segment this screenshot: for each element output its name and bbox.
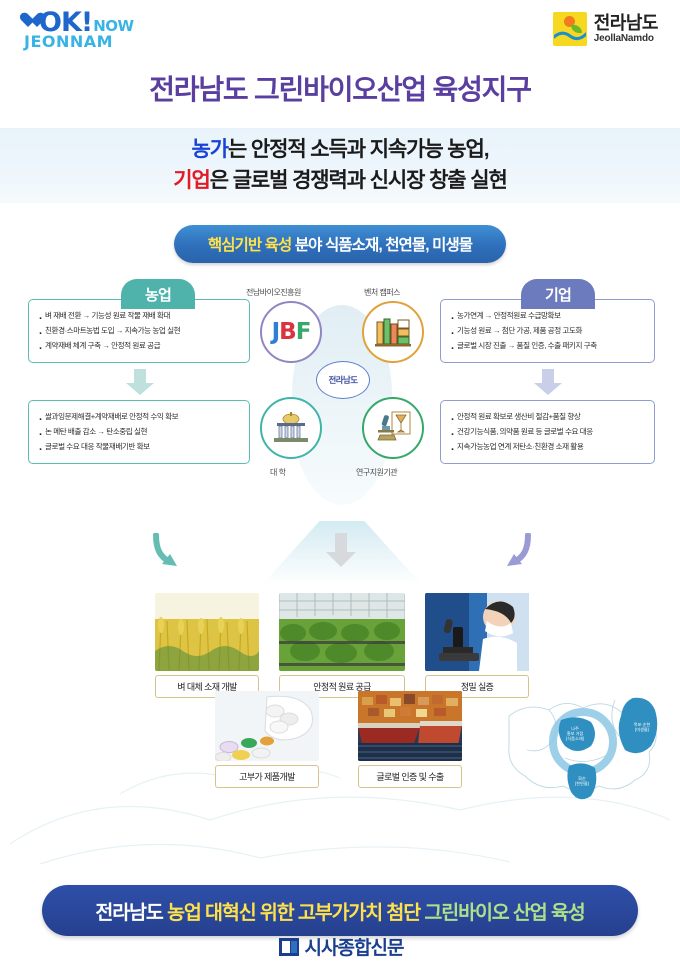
list-item: 지속가능농업 연계 저탄소·친환경 소재 활용 xyxy=(451,440,646,455)
banner-part-2: 농업 대혁신 위한 고부가가치 첨단 xyxy=(167,902,424,924)
container-ship-port-photo xyxy=(358,691,462,761)
center-node-jeonnam: 전라남도 xyxy=(316,361,370,399)
node-label-venture-campus: 벤처 캠퍼스 xyxy=(364,287,400,298)
university-building-icon xyxy=(272,412,310,444)
photo-card-greenhouse: 안정적 원료 공급 xyxy=(279,593,405,698)
heart-icon xyxy=(24,13,41,28)
node-label-university: 대 학 xyxy=(270,467,285,478)
map-icon: 나주홍보 거점(식품소재) 목포·순천(미생물) 화순(천연물) xyxy=(505,686,680,806)
photo-card-lab: 정밀 실증 xyxy=(425,593,529,698)
photo-caption: 글로벌 인증 및 수출 xyxy=(358,765,462,788)
jbf-logo-icon: JBF xyxy=(272,319,311,345)
list-item: 쌀과잉문제해결+계약재배로 안정적 수익 확보 xyxy=(39,410,241,425)
enterprise-panel-2: 안정적 원료 확보로 생산비 절감+품질 향상 건강기능식품, 의약품 원료 등… xyxy=(440,400,655,464)
ecosystem-diagram: 농업 기업 벼 재배 전환 → 기능성 원료 작물 재배 확대 친환경·스마트농… xyxy=(0,277,680,537)
subtitle-line-1: 농가는 안정적 소득과 지속가능 농업, xyxy=(192,135,489,165)
jeollanamdo-emblem-icon xyxy=(553,12,587,46)
jeonnam-region-map: 나주홍보 거점(식품소재) 목포·순천(미생물) 화순(천연물) xyxy=(505,686,680,806)
photo-card-rice: 벼 대체 소재 개발 xyxy=(155,593,259,698)
svg-text:(천연물): (천연물) xyxy=(575,780,590,786)
list-item: 벼 재배 전환 → 기능성 원료 작물 재배 확대 xyxy=(39,309,241,324)
subtitle-rest-2: 은 글로벌 경쟁력과 신시장 창출 실현 xyxy=(210,169,507,192)
photo-card-export: 글로벌 인증 및 수출 xyxy=(358,691,462,788)
node-circle-venture-campus xyxy=(362,301,424,363)
subtitle-rest-1: 는 안정적 소득과 지속가능 농업, xyxy=(228,138,489,161)
list-item: 건강기능식품, 의약품 원료 등 글로벌 수요 대응 xyxy=(451,425,646,440)
core-field-pill-wrap: 핵심기반 육성 분야 식품소재, 천연물, 미생물 xyxy=(0,225,680,263)
subtitle-line-2: 기업은 글로벌 경쟁력과 신시장 창출 실현 xyxy=(173,166,506,196)
center-down-arrow-icon xyxy=(325,533,357,567)
lab-researcher-microscope-photo xyxy=(425,593,529,671)
page-header: OK! NOW JEONNAM 전라남도 JeollaNamdo xyxy=(0,0,680,62)
watermark-text: 시사종합신문 xyxy=(305,933,404,960)
ok-now-jeonnam-logo: OK! NOW JEONNAM xyxy=(24,10,152,52)
microscope-icon xyxy=(374,411,412,445)
svg-text:(식품소재): (식품소재) xyxy=(566,735,585,742)
flow-arrows xyxy=(0,537,680,591)
down-arrow-enterprise-icon xyxy=(533,369,563,395)
core-field-pill: 핵심기반 육성 분야 식품소재, 천연물, 미생물 xyxy=(174,225,506,263)
svg-text:(미생물): (미생물) xyxy=(635,726,650,733)
list-item: 논 메탄 배출 감소 → 탄소중립 실현 xyxy=(39,425,241,440)
jeollanamdo-name-en: JeollaNamdo xyxy=(594,33,658,44)
right-curved-arrow-icon xyxy=(498,533,534,573)
down-arrow-agriculture-icon xyxy=(125,369,155,395)
diagram-tab-agriculture: 농업 xyxy=(121,279,195,309)
newspaper-logo-icon xyxy=(277,936,301,958)
agriculture-panel-2: 쌀과잉문제해결+계약재배로 안정적 수익 확보 논 메탄 배출 감소 → 탄소중… xyxy=(28,400,250,464)
pill-rest: 분야 식품소재, 천연물, 미생물 xyxy=(291,237,472,254)
list-item: 농가연계 → 안정적원료 수급망확보 xyxy=(451,309,646,324)
rice-field-photo xyxy=(155,593,259,671)
diagram-tab-enterprise: 기업 xyxy=(521,279,595,309)
node-circle-university xyxy=(260,397,322,459)
list-item: 계약재배 체계 구축 → 안정적 원료 공급 xyxy=(39,339,241,354)
photo-gallery: 벼 대체 소재 개발 xyxy=(0,591,680,841)
partner-cluster: 전남바이오진흥원 JBF 벤처 캠퍼스 대 학 xyxy=(252,285,434,500)
node-circle-bio-agency: JBF xyxy=(260,301,322,363)
left-curved-arrow-icon xyxy=(150,533,186,573)
list-item: 친환경·스마트농법 도입 → 지속가능 농업 실현 xyxy=(39,324,241,339)
banner-part-1: 전라남도 xyxy=(95,902,167,924)
photo-card-pills: 고부가 제품개발 xyxy=(215,691,319,788)
subtitle-highlight-corp: 기업 xyxy=(173,169,209,192)
greenhouse-photo xyxy=(279,593,405,671)
list-item: 기능성 원료 → 첨단 가공, 제품 공정 고도화 xyxy=(451,324,646,339)
node-label-bio-agency: 전남바이오진흥원 xyxy=(246,287,301,298)
node-label-research-institute: 연구지원기관 xyxy=(356,467,397,478)
list-item: 글로벌 시장 진출 → 품질 인증, 수출 패키지 구축 xyxy=(451,339,646,354)
subtitle-band: 농가는 안정적 소득과 지속가능 농업, 기업은 글로벌 경쟁력과 신시장 창출… xyxy=(0,128,680,203)
list-item: 안정적 원료 확보로 생산비 절감+품질 향상 xyxy=(451,410,646,425)
pill-highlight: 핵심기반 육성 xyxy=(208,237,292,254)
jeollanamdo-logo: 전라남도 JeollaNamdo xyxy=(553,12,658,46)
pills-capsules-photo xyxy=(215,691,319,761)
page-title: 전라남도 그린바이오산업 육성지구 xyxy=(0,68,680,108)
banner-part-3: 그린바이오 산업 육성 xyxy=(424,902,584,924)
list-item: 글로벌 수요 대응 작물재배기반 확보 xyxy=(39,440,241,455)
watermark: 시사종합신문 xyxy=(0,933,680,960)
jeollanamdo-name-ko: 전라남도 xyxy=(594,14,658,34)
books-icon xyxy=(375,316,411,348)
node-circle-research-institute xyxy=(362,397,424,459)
subtitle-highlight-farm: 농가 xyxy=(192,138,228,161)
photo-caption: 고부가 제품개발 xyxy=(215,765,319,788)
bottom-banner-wrap: 전라남도 농업 대혁신 위한 고부가가치 첨단 그린바이오 산업 육성 xyxy=(0,885,680,936)
bottom-banner: 전라남도 농업 대혁신 위한 고부가가치 첨단 그린바이오 산업 육성 xyxy=(42,885,638,936)
